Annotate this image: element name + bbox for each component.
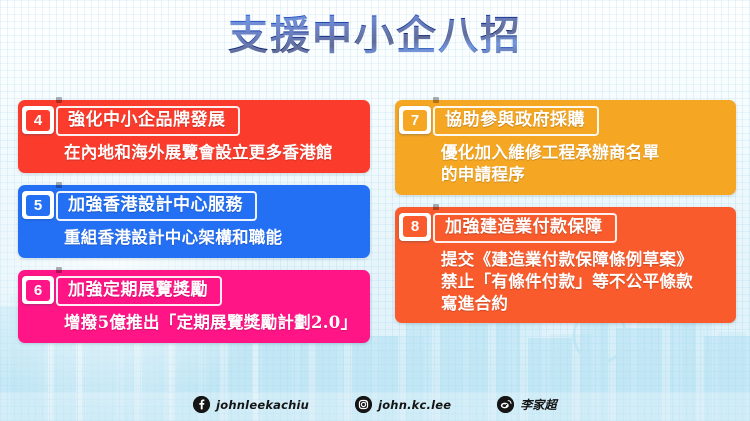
- social-instagram[interactable]: john.kc.lee: [355, 396, 451, 413]
- badge-number: 5: [26, 195, 50, 216]
- card-body-line: 的申請程序: [441, 164, 726, 186]
- badge-8: 8: [399, 213, 431, 241]
- weibo-icon: [497, 396, 514, 413]
- badge-number: 4: [26, 110, 50, 131]
- instagram-handle: john.kc.lee: [378, 398, 451, 412]
- social-footer: johnleekachiu john.kc.lee: [0, 396, 750, 413]
- page-title: 支援中小企八招: [228, 14, 522, 57]
- card-body-line: 提交《建造業付款保障條例草案》: [441, 249, 726, 271]
- card-heading: 加強建造業付款保障: [433, 213, 617, 243]
- measure-card-4[interactable]: 4 強化中小企品牌發展 在內地和海外展覽會設立更多香港館: [18, 100, 370, 173]
- card-heading: 強化中小企品牌發展: [56, 106, 240, 136]
- card-body: 優化加入維修工程承辦商名單 的申請程序: [441, 142, 726, 186]
- card-corner-nick: [56, 267, 62, 273]
- left-column: 4 強化中小企品牌發展 在內地和海外展覽會設立更多香港館 5 加強香港設計中心服…: [18, 100, 370, 355]
- badge-5: 5: [22, 191, 54, 219]
- instagram-icon: [355, 396, 372, 413]
- card-body-line: 禁止「有條件付款」等不公平條款: [441, 271, 726, 293]
- social-facebook[interactable]: johnleekachiu: [193, 396, 309, 413]
- card-corner-nick: [433, 97, 439, 103]
- badge-number: 7: [403, 110, 427, 131]
- card-body: 提交《建造業付款保障條例草案》 禁止「有條件付款」等不公平條款 寫進合約: [441, 249, 726, 314]
- badge-4: 4: [22, 106, 54, 134]
- social-weibo[interactable]: 李家超: [497, 396, 557, 413]
- badge-7: 7: [399, 106, 431, 134]
- facebook-icon: [193, 396, 210, 413]
- measure-card-7[interactable]: 7 協助參與政府採購 優化加入維修工程承辦商名單 的申請程序: [395, 100, 736, 195]
- title-area: 支援中小企八招: [0, 14, 750, 57]
- card-body: 在內地和海外展覽會設立更多香港館: [64, 142, 360, 164]
- measure-card-5[interactable]: 5 加強香港設計中心服務 重組香港設計中心架構和職能: [18, 185, 370, 258]
- card-body-line: 在內地和海外展覽會設立更多香港館: [64, 142, 360, 164]
- card-heading: 協助參與政府採購: [433, 106, 599, 136]
- weibo-handle: 李家超: [520, 396, 557, 413]
- measure-card-8[interactable]: 8 加強建造業付款保障 提交《建造業付款保障條例草案》 禁止「有條件付款」等不公…: [395, 207, 736, 324]
- card-heading: 加強香港設計中心服務: [56, 191, 257, 221]
- badge-number: 8: [403, 216, 427, 237]
- card-body: 重組香港設計中心架構和職能: [64, 227, 360, 249]
- card-body: 增撥5億推出「定期展覽獎勵計劃2.0」: [64, 312, 360, 334]
- poster-canvas: 支援中小企八招 4 強化中小企品牌發展 在內地和海外展覽會設立更多香港館 5 加…: [0, 0, 750, 421]
- badge-6: 6: [22, 276, 54, 304]
- measure-card-6[interactable]: 6 加強定期展覽獎勵 增撥5億推出「定期展覽獎勵計劃2.0」: [18, 270, 370, 343]
- card-body-line: 增撥5億推出「定期展覽獎勵計劃2.0」: [64, 312, 360, 334]
- facebook-handle: johnleekachiu: [216, 398, 309, 412]
- badge-number: 6: [26, 280, 50, 301]
- card-heading: 加強定期展覽獎勵: [56, 276, 222, 306]
- card-body-line: 寫進合約: [441, 293, 726, 315]
- card-body-line: 優化加入維修工程承辦商名單: [441, 142, 726, 164]
- card-corner-nick: [56, 182, 62, 188]
- card-corner-nick: [433, 204, 439, 210]
- card-body-line: 重組香港設計中心架構和職能: [64, 227, 360, 249]
- card-corner-nick: [56, 97, 62, 103]
- right-column: 7 協助參與政府採購 優化加入維修工程承辦商名單 的申請程序 8 加強建造業付款…: [395, 100, 736, 335]
